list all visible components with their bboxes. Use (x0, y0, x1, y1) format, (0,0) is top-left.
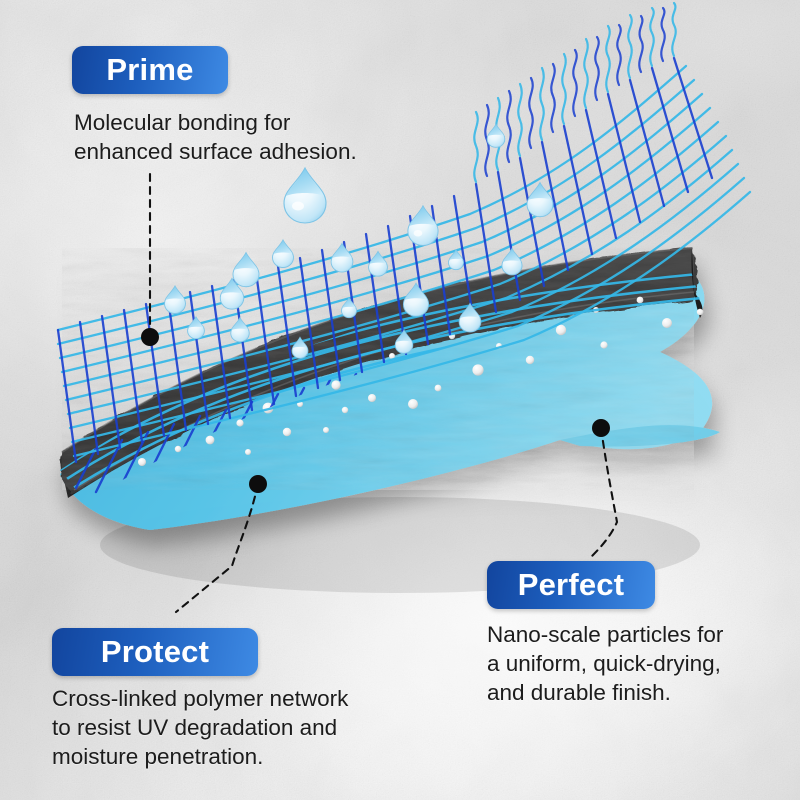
badge-perfect[interactable]: Perfect (487, 561, 655, 609)
callout-dot-protect (249, 475, 267, 493)
body-text-prime: Molecular bonding for enhanced surface a… (74, 108, 434, 166)
substrate-slab (60, 248, 702, 498)
slab-assembly (60, 248, 720, 530)
nano-particles (138, 297, 703, 466)
infographic-canvas: Prime Molecular bonding for enhanced sur… (0, 0, 800, 800)
woven-mesh-lower (58, 274, 704, 500)
badge-prime[interactable]: Prime (72, 46, 228, 94)
callout-dot-prime (141, 328, 159, 346)
base-film-layer (60, 272, 720, 530)
body-text-perfect: Nano-scale particles for a uniform, quic… (487, 620, 800, 707)
badge-prime-label: Prime (106, 52, 193, 88)
badge-protect[interactable]: Protect (52, 628, 258, 676)
callout-dot-perfect (592, 419, 610, 437)
body-text-protect: Cross-linked polymer network to resist U… (52, 684, 452, 771)
callout-dots (141, 328, 610, 493)
leader-line-perfect (590, 428, 617, 558)
badge-protect-label: Protect (101, 634, 209, 670)
callout-leaders (150, 173, 617, 612)
leader-line-protect (176, 484, 258, 612)
badge-perfect-label: Perfect (518, 567, 625, 603)
